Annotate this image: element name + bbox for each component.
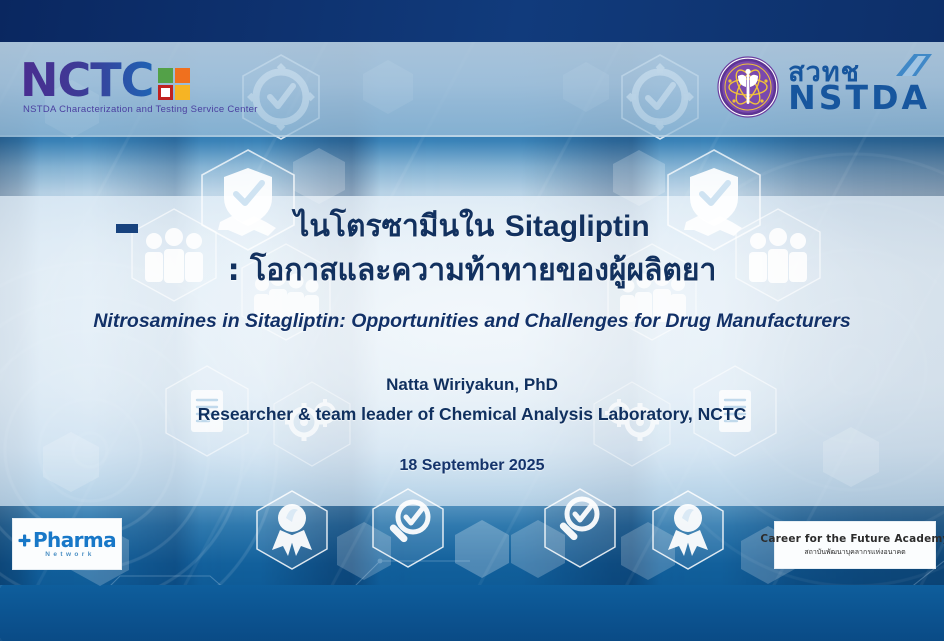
cffa-english-name: Career for the Future Academy: [760, 533, 944, 545]
nstda-english-text: NSTDA: [788, 84, 930, 112]
title-line-2: : โอกาสและความท้าทายของผู้ผลิตยา: [0, 249, 944, 293]
medical-cross-icon: [18, 534, 31, 547]
bottom-band: [0, 585, 944, 641]
nctc-square-yellow: [175, 85, 190, 100]
top-band: [0, 0, 944, 42]
slide-text-block: ไนโตรซามีนใน Sitagliptin : โอกาสและความท…: [0, 205, 944, 475]
nctc-square-orange: [175, 68, 190, 83]
dash-decoration: [116, 224, 138, 233]
nctc-wordmark: NCTC: [20, 58, 153, 102]
presentation-slide: NCTC NSTDA Characterization and Testing …: [0, 0, 944, 641]
presentation-date: 18 September 2025: [0, 457, 944, 475]
author-affiliation: Researcher & team leader of Chemical Ana…: [0, 404, 944, 425]
nctc-tagline: NSTDA Characterization and Testing Servi…: [23, 104, 258, 115]
subtitle: Nitrosamines in Sitagliptin: Opportuniti…: [0, 310, 944, 333]
nstda-emblem-icon: [717, 56, 779, 118]
nstda-swoosh-icon: [892, 52, 936, 78]
nctc-logo-row: NCTC: [20, 58, 190, 102]
nctc-logo: NCTC NSTDA Characterization and Testing …: [20, 58, 258, 115]
title-english-part: Sitagliptin: [505, 210, 650, 243]
nctc-square-green: [158, 68, 173, 83]
pharma-wordmark: Pharma: [33, 530, 116, 550]
author-name: Natta Wiriyakun, PhD: [0, 375, 944, 395]
nctc-color-squares: [158, 68, 190, 100]
pharma-logo-row: Pharma: [18, 530, 116, 550]
career-future-academy-logo: Career for the Future Academy สถาบันพัฒน…: [774, 521, 936, 569]
page-title: ไนโตรซามีนใน Sitagliptin : โอกาสและความท…: [0, 205, 944, 292]
title-line-1: ไนโตรซามีนใน Sitagliptin: [0, 205, 944, 249]
title-thai-part: ไนโตรซามีนใน: [294, 209, 504, 244]
nctc-square-red-outline: [158, 85, 173, 100]
pharma-network-logo: Pharma Network: [12, 518, 122, 570]
cffa-thai-name: สถาบันพัฒนาบุคลากรแห่งอนาคต: [804, 547, 905, 558]
pharma-subtext: Network: [45, 551, 94, 558]
